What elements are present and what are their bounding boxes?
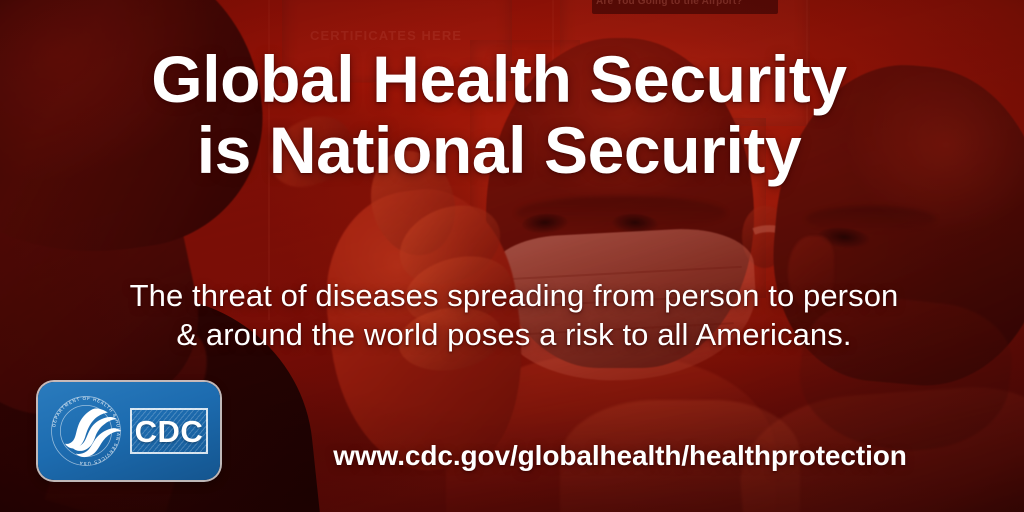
cdc-logo[interactable]: DEPARTMENT OF HEALTH & HUMAN SERVICES US…: [38, 382, 220, 480]
subheadline: The threat of diseases spreading from pe…: [30, 276, 998, 354]
cdc-wordmark: CDC: [130, 408, 208, 454]
subheadline-line-1: The threat of diseases spreading from pe…: [130, 278, 899, 313]
headline-line-2: is National Security: [0, 115, 998, 186]
cdc-wordmark-text: CDC: [130, 408, 208, 454]
website-url[interactable]: www.cdc.gov/globalhealth/healthprotectio…: [240, 440, 1000, 472]
banner-content: Global Health Security is National Secur…: [0, 0, 1024, 512]
headline: Global Health Security is National Secur…: [0, 44, 998, 185]
hhs-seal-icon: DEPARTMENT OF HEALTH & HUMAN SERVICES US…: [44, 389, 128, 473]
headline-line-1: Global Health Security: [151, 42, 846, 116]
subheadline-line-2: & around the world poses a risk to all A…: [30, 315, 998, 354]
cdc-global-health-security-banner: Are You Going to the Airport? CERTIFICAT…: [0, 0, 1024, 512]
